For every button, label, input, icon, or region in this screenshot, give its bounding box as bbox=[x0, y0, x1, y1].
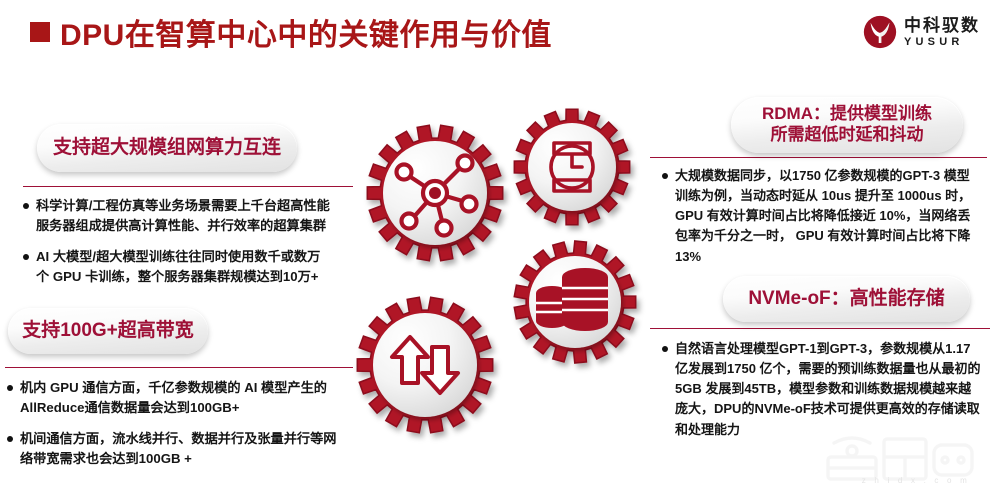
pill-rdma-line2: 所需超低时延和抖动 bbox=[762, 125, 932, 146]
slide-root: DPU在智算中心中的关键作用与价值 中科驭数 YUSUR 支持超大规模组网算力互… bbox=[0, 0, 1000, 495]
list-item: 科学计算/工程仿真等业务场景需要上千台超高性能服务器组成提供高计算性能、并行效率… bbox=[23, 196, 333, 236]
slide-header: DPU在智算中心中的关键作用与价值 中科驭数 YUSUR bbox=[0, 0, 1000, 62]
gear-cluster-graphic bbox=[330, 85, 680, 445]
connector-line-left-bottom bbox=[5, 367, 353, 368]
text-block-left-bottom: 机内 GPU 通信方面，千亿参数规模的 AI 模型产生的 AllReduce通信… bbox=[7, 378, 337, 480]
bullet-dot-icon bbox=[7, 385, 13, 391]
bullet-text: 机间通信方面，流水线并行、数据并行及张量并行等网络带宽需求也会达到100GB + bbox=[20, 429, 337, 469]
logo-name-en: YUSUR bbox=[904, 37, 980, 48]
gear-clock bbox=[514, 109, 629, 224]
bullet-text: 机内 GPU 通信方面，千亿参数规模的 AI 模型产生的 AllReduce通信… bbox=[20, 378, 337, 418]
connector-line-right-top bbox=[650, 157, 987, 158]
square-bullet-icon bbox=[30, 22, 50, 42]
pill-rdma-line1: RDMA：提供模型训练 bbox=[762, 104, 932, 125]
bullet-text: AI 大模型/超大模型训练往往同时使用数千或数万个 GPU 卡训练，整个服务器集… bbox=[36, 247, 333, 287]
text-block-left-top: 科学计算/工程仿真等业务场景需要上千台超高性能服务器组成提供高计算性能、并行效率… bbox=[23, 196, 333, 298]
pill-bandwidth[interactable]: 支持100G+超高带宽 bbox=[8, 308, 208, 354]
bullet-dot-icon bbox=[23, 254, 29, 260]
pill-rdma[interactable]: RDMA：提供模型训练 所需超低时延和抖动 bbox=[731, 97, 963, 153]
brand-logo: 中科驭数 YUSUR bbox=[863, 12, 980, 52]
pill-nvme[interactable]: NVMe-oF：高性能存储 bbox=[723, 276, 970, 322]
gear-network bbox=[367, 85, 502, 261]
list-item: 机内 GPU 通信方面，千亿参数规模的 AI 模型产生的 AllReduce通信… bbox=[7, 378, 337, 418]
connector-line-left-top bbox=[23, 186, 353, 187]
list-item: 大规模数据同步，以1750 亿参数规模的GPT-3 模型训练为例，当动态时延从 … bbox=[662, 166, 980, 267]
logo-name-cn: 中科驭数 bbox=[904, 17, 980, 34]
bullet-text: 科学计算/工程仿真等业务场景需要上千台超高性能服务器组成提供高计算性能、并行效率… bbox=[36, 196, 333, 236]
connector-line-right-bottom bbox=[650, 328, 990, 329]
yusur-y-circle-icon bbox=[863, 15, 897, 49]
bullet-text: 大规模数据同步，以1750 亿参数规模的GPT-3 模型训练为例，当动态时延从 … bbox=[675, 166, 980, 267]
gear-transfer bbox=[357, 297, 492, 433]
gear-face bbox=[373, 313, 477, 417]
list-item: AI 大模型/超大模型训练往往同时使用数千或数万个 GPU 卡训练，整个服务器集… bbox=[23, 247, 333, 287]
logo-wordmark: 中科驭数 YUSUR bbox=[904, 17, 980, 48]
list-item: 机间通信方面，流水线并行、数据并行及张量并行等网络带宽需求也会达到100GB + bbox=[7, 429, 337, 469]
bullet-dot-icon bbox=[23, 203, 29, 209]
pill-interconnect[interactable]: 支持超大规模组网算力互连 bbox=[37, 124, 297, 172]
page-title: DPU在智算中心中的关键作用与价值 bbox=[60, 10, 552, 54]
text-block-right-top: 大规模数据同步，以1750 亿参数规模的GPT-3 模型训练为例，当动态时延从 … bbox=[662, 166, 980, 278]
gear-storage bbox=[514, 241, 635, 363]
watermark-text: z h i d x . c o m bbox=[862, 476, 970, 485]
bullet-dot-icon bbox=[7, 436, 13, 442]
